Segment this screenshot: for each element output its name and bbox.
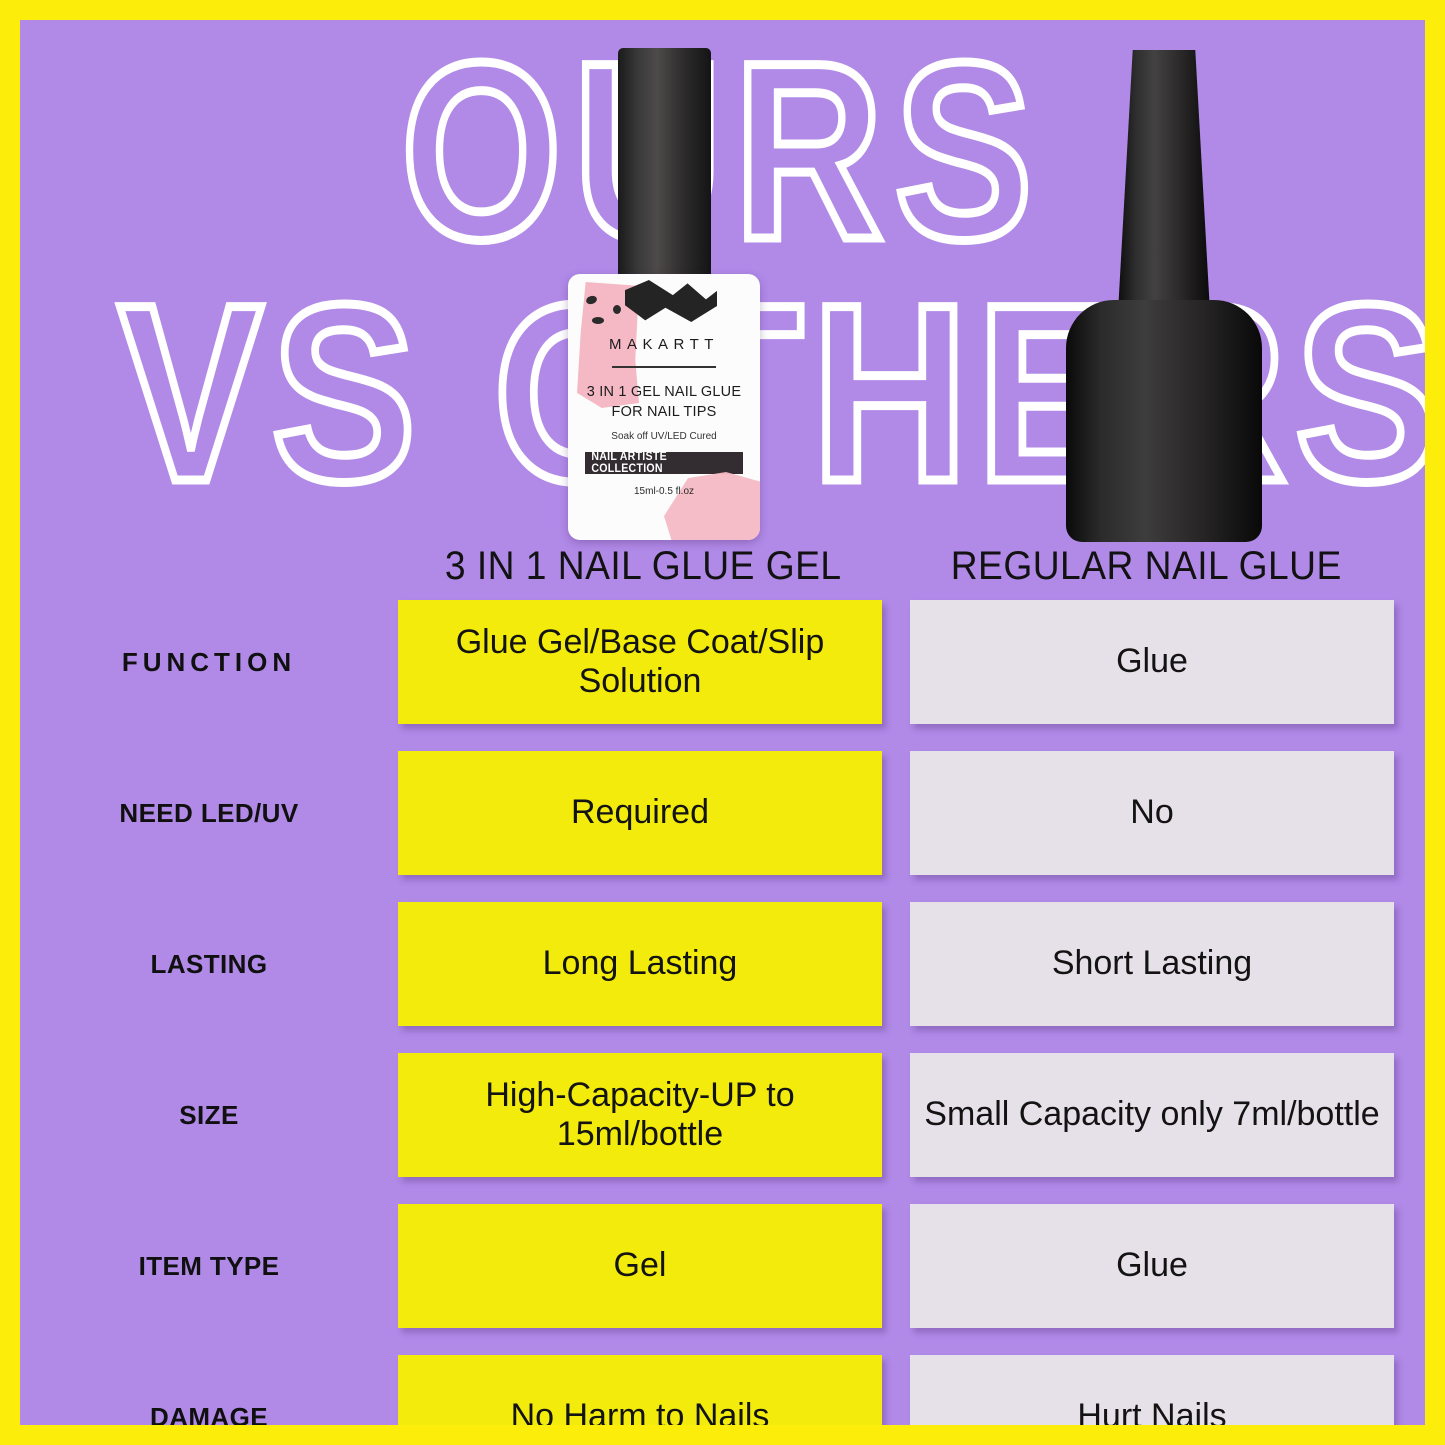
cell-others-need-led-uv: No: [910, 751, 1394, 875]
product-bottle-ours: MAKARTT 3 IN 1 GEL NAIL GLUE FOR NAIL TI…: [568, 48, 760, 540]
product-title-line-1: 3 IN 1 GEL NAIL GLUE: [568, 384, 760, 400]
label-divider: [612, 366, 716, 368]
cell-others-size: Small Capacity only 7ml/bottle: [910, 1053, 1394, 1177]
product-subtitle: Soak off UV/LED Cured: [568, 431, 760, 442]
cell-ours-size: High-Capacity-UP to 15ml/bottle: [398, 1053, 882, 1177]
column-gap: [882, 1204, 910, 1328]
column-gap: [882, 1355, 910, 1425]
bottle-body-ours: MAKARTT 3 IN 1 GEL NAIL GLUE FOR NAIL TI…: [568, 274, 760, 540]
bottle-body-others: [1066, 300, 1262, 542]
cell-ours-need-led-uv: Required: [398, 751, 882, 875]
infographic-inner-panel: OURS VS OTHERS MAKARTT 3 IN 1 GEL NAIL G…: [20, 20, 1425, 1425]
column-gap: [882, 1053, 910, 1177]
label-dot-icon: [592, 317, 604, 324]
table-row: LASTING Long Lasting Short Lasting: [20, 902, 1425, 1026]
table-row: FUNCTION Glue Gel/Base Coat/Slip Solutio…: [20, 600, 1425, 724]
product-bottle-others: [1066, 50, 1262, 542]
bottle-cap-ours: [618, 48, 711, 280]
collection-banner: NAIL ARTISTE COLLECTION: [585, 452, 743, 474]
cell-ours-function: Glue Gel/Base Coat/Slip Solution: [398, 600, 882, 724]
row-label-damage: DAMAGE: [20, 1355, 398, 1425]
table-row: NEED LED/UV Required No: [20, 751, 1425, 875]
row-label-need-led-uv: NEED LED/UV: [20, 751, 398, 875]
label-dot-icon: [613, 305, 621, 314]
cell-ours-item-type: Gel: [398, 1204, 882, 1328]
cell-ours-lasting: Long Lasting: [398, 902, 882, 1026]
table-row: DAMAGE No Harm to Nails Hurt Nails: [20, 1355, 1425, 1425]
bottle-cap-others: [1118, 50, 1210, 312]
column-gap: [882, 902, 910, 1026]
row-label-item-type: ITEM TYPE: [20, 1204, 398, 1328]
black-brush-stroke-icon: [625, 280, 717, 322]
column-gap: [882, 600, 910, 724]
column-header-others: REGULAR NAIL GLUE: [951, 544, 1342, 589]
infographic-page: OURS VS OTHERS MAKARTT 3 IN 1 GEL NAIL G…: [0, 0, 1445, 1445]
column-gap: [882, 751, 910, 875]
table-row: SIZE High-Capacity-UP to 15ml/bottle Sma…: [20, 1053, 1425, 1177]
cell-others-damage: Hurt Nails: [910, 1355, 1394, 1425]
product-title-line-2: FOR NAIL TIPS: [568, 404, 760, 420]
cell-ours-damage: No Harm to Nails: [398, 1355, 882, 1425]
cell-others-function: Glue: [910, 600, 1394, 724]
pink-brush-stroke-icon: [664, 472, 760, 540]
column-header-ours: 3 IN 1 NAIL GLUE GEL: [445, 544, 842, 589]
row-label-lasting: LASTING: [20, 902, 398, 1026]
cell-others-item-type: Glue: [910, 1204, 1394, 1328]
table-row: ITEM TYPE Gel Glue: [20, 1204, 1425, 1328]
brand-name: MAKARTT: [568, 336, 760, 353]
comparison-table: FUNCTION Glue Gel/Base Coat/Slip Solutio…: [20, 600, 1425, 1425]
cell-others-lasting: Short Lasting: [910, 902, 1394, 1026]
collection-banner-label: NAIL ARTISTE COLLECTION: [591, 451, 736, 475]
row-label-size: SIZE: [20, 1053, 398, 1177]
product-volume: 15ml-0.5 fl.oz: [568, 486, 760, 497]
row-label-function: FUNCTION: [20, 600, 398, 724]
